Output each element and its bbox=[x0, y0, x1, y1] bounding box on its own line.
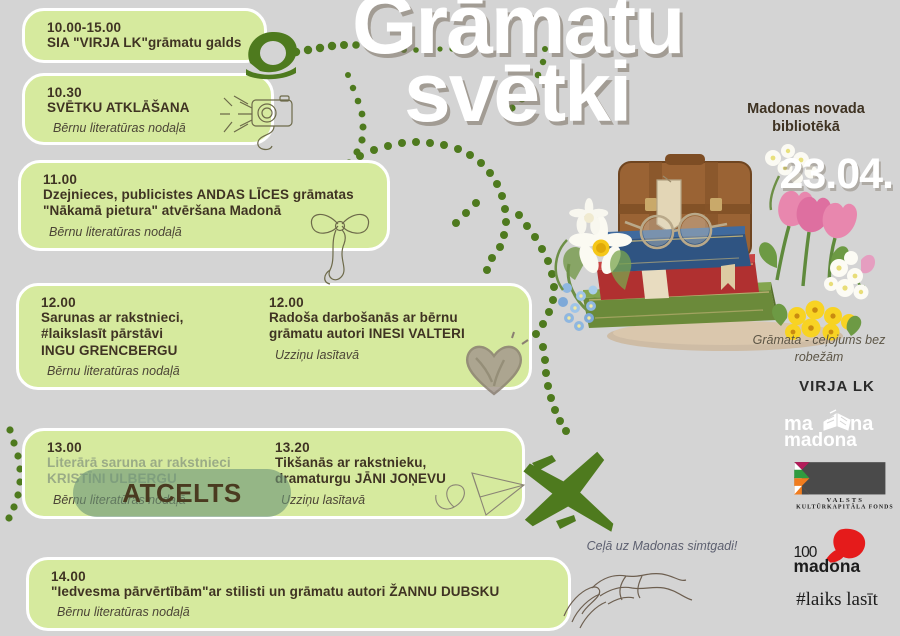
event-date: 23.04. bbox=[718, 150, 893, 199]
schedule-card-1400: 14.00 "Iedvesma pārvērtībām"ar stilisti … bbox=[26, 557, 571, 631]
event-title-line2: grāmatu autori INESI VALTERI bbox=[269, 326, 465, 342]
event-time: 13.20 bbox=[275, 440, 446, 455]
schedule-card-1030: 10.30 SVĒTKU ATKLĀŠANA Bērnu literatūras… bbox=[22, 73, 274, 145]
event-location: Bērnu literatūras nodaļā bbox=[43, 225, 371, 239]
sponsor-mana-madona: ma na madona bbox=[778, 404, 896, 448]
schedule-column-right: 12.00 Radoša darbošanās ar bērnu grāmatu… bbox=[269, 295, 465, 378]
event-time: 13.00 bbox=[47, 440, 275, 455]
event-title: SVĒTKU ATKLĀŠANA bbox=[47, 100, 255, 116]
event-title-line1: Dzejnieces, publicistes ANDAS LĪCES grām… bbox=[43, 187, 371, 203]
cancelled-label: ATCELTS bbox=[122, 478, 242, 509]
mana-madona-logo: ma na madona bbox=[778, 404, 896, 448]
heart-hands-icon bbox=[556, 558, 706, 636]
event-time: 12.00 bbox=[41, 295, 269, 310]
vkkf-line2: KULTŪRKAPITĀLA FONDS bbox=[796, 504, 893, 511]
vkkf-logo: VALSTS KULTŪRKAPITĀLA FONDS bbox=[781, 457, 893, 511]
tagline-text: Grāmata - ceļojums bez robežām bbox=[745, 332, 893, 366]
event-title-line2: #laikslasīt pārstāvi bbox=[41, 326, 269, 342]
cancelled-stamp: ATCELTS bbox=[73, 469, 291, 517]
event-title-line2: "Nākamā pietura" atvēršana Madonā bbox=[43, 203, 371, 219]
event-location: Bērnu literatūras nodaļā bbox=[41, 364, 269, 378]
schedule-card-1000-1500: 10.00-15.00 SIA "VIRJA LK"grāmatu galds bbox=[22, 8, 267, 63]
schedule-card-1100: 11.00 Dzejnieces, publicistes ANDAS LĪCE… bbox=[18, 160, 390, 251]
event-location: Uzziņu lasītavā bbox=[269, 348, 465, 362]
subtitle-venue: Madonas novada bibliotēkā bbox=[726, 100, 886, 136]
event-time: 12.00 bbox=[269, 295, 465, 310]
schedule-column-left: 12.00 Sarunas ar rakstnieci, #laikslasīt… bbox=[41, 295, 269, 378]
event-location: Uzziņu lasītavā bbox=[275, 493, 446, 507]
vkkf-line1: VALSTS bbox=[827, 497, 864, 504]
event-location: Bērnu literatūras nodaļā bbox=[47, 121, 255, 135]
sponsor-virja-lk: VIRJA LK bbox=[778, 378, 896, 395]
page-title: Grāmatu svētki bbox=[352, 0, 782, 130]
event-title-line1: Radoša darbošanās ar bērnu bbox=[269, 310, 465, 326]
event-time: 10.30 bbox=[47, 85, 255, 100]
event-title-line3: INGU GRENCBERGU bbox=[41, 343, 269, 359]
airplane-icon bbox=[512, 435, 642, 555]
event-title: SIA "VIRJA LK"grāmatu galds bbox=[47, 35, 248, 51]
svg-text:madona: madona bbox=[784, 430, 857, 448]
event-time: 11.00 bbox=[43, 172, 371, 187]
madona-text: madona bbox=[794, 556, 861, 575]
schedule-card-1200: 12.00 Sarunas ar rakstnieci, #laikslasīt… bbox=[16, 283, 532, 390]
hundred-madona-logo: 100 madona bbox=[780, 525, 894, 575]
event-title-line1: Tikšanās ar rakstnieku, bbox=[275, 455, 446, 471]
event-time: 10.00-15.00 bbox=[47, 20, 248, 35]
event-title: "Iedvesma pārvērtībām"ar stilisti un grā… bbox=[51, 584, 552, 600]
sponsor-laiks-lasit: #laiks lasīt bbox=[778, 589, 896, 611]
schedule-column-left-cancelled: 13.00 Literārā saruna ar rakstnieci KRIS… bbox=[47, 440, 275, 507]
event-time: 14.00 bbox=[51, 569, 552, 584]
poster-canvas: Grāmatu svētki Madonas novada bibliotēkā… bbox=[0, 0, 900, 636]
schedule-column-right: 13.20 Tikšanās ar rakstnieku, dramaturgu… bbox=[275, 440, 446, 507]
event-location: Bērnu literatūras nodaļā bbox=[51, 605, 552, 619]
event-title-line1: Sarunas ar rakstnieci, bbox=[41, 310, 269, 326]
event-title-line2: dramaturgu JĀNI JOŅEVU bbox=[275, 471, 446, 487]
sponsor-logo-rail: VIRJA LK ma na madona bbox=[778, 378, 896, 620]
title-line-1: Grāmatu bbox=[352, 0, 782, 62]
journey-note-text: Ceļā uz Madonas simtgadi! bbox=[548, 539, 776, 553]
sponsor-100-madona: 100 madona bbox=[778, 525, 896, 580]
schedule-card-1300: 13.00 Literārā saruna ar rakstnieci KRIS… bbox=[22, 428, 525, 519]
sponsor-vkkf: VALSTS KULTŪRKAPITĀLA FONDS bbox=[778, 457, 896, 516]
